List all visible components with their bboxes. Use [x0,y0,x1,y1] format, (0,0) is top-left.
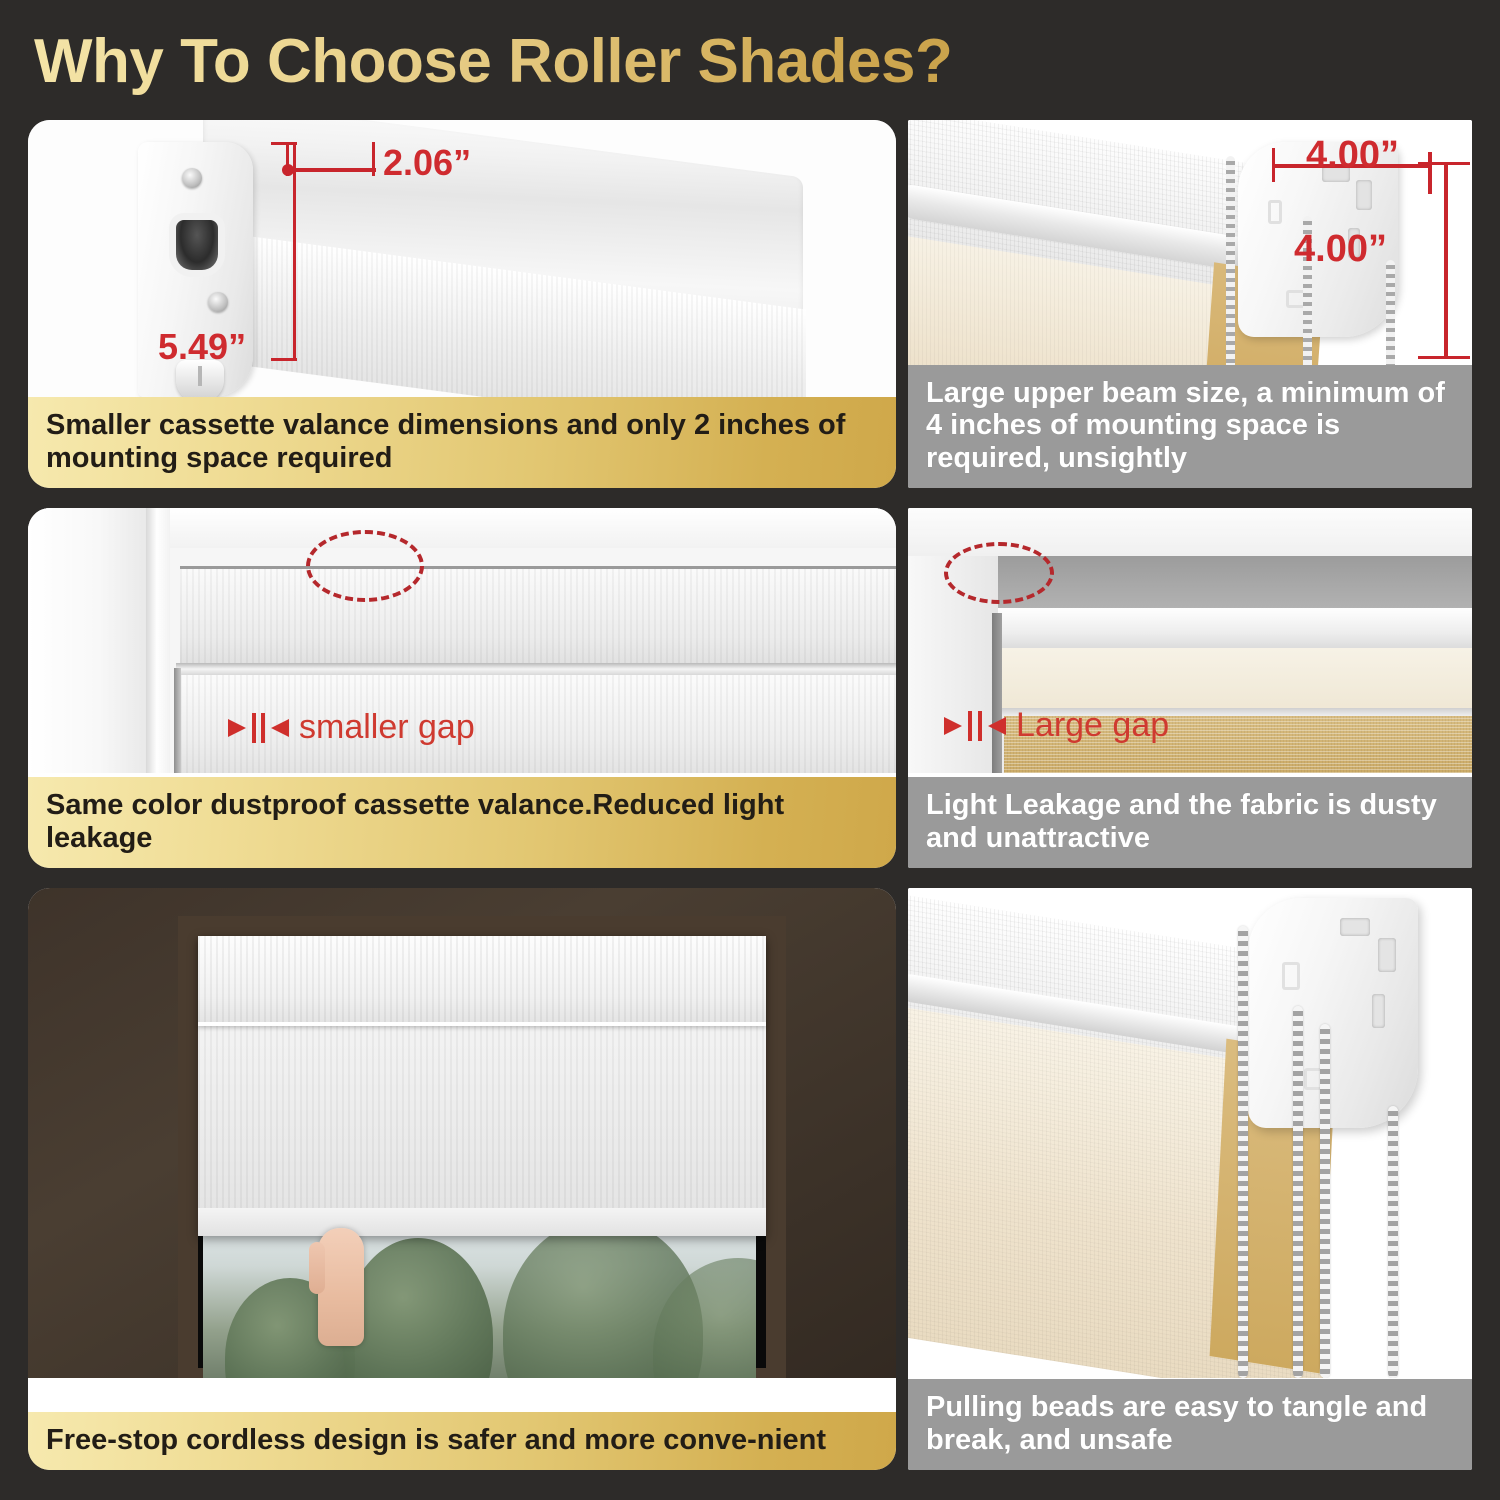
gap-tick-icon [978,711,982,741]
screw-icon [208,292,228,312]
gap-edge [174,668,181,773]
bracket-hook-slot [1356,180,1372,210]
width-dim-line [286,168,376,172]
shade-bottom-rail [198,1208,766,1236]
screw-icon [182,168,202,188]
panel-1-caption: Smaller cassette valance dimensions and … [28,397,896,488]
panel-2-caption: Large upper beam size, a minimum of 4 in… [908,365,1472,488]
arrow-right-icon [944,717,962,735]
gap-tick-icon [261,713,265,743]
panel-pulling-beads: Pulling beads are easy to tangle and bre… [908,888,1472,1470]
panel-cordless-design: Free-stop cordless design is safer and m… [28,888,896,1470]
panel-4-caption: Light Leakage and the fabric is dusty an… [908,777,1472,868]
bead-chain [1388,1106,1398,1378]
arrow-right-icon [228,719,246,737]
panel-large-gap: Large gap Light Leakage and the fabric i… [908,508,1472,868]
window-header-trim [170,508,896,548]
gap-label: smaller gap [299,708,475,747]
height-dim-line [293,142,296,360]
mounting-bracket [1248,898,1418,1128]
arrow-left-icon [271,719,289,737]
dimension-width-label: 4.00” [1306,134,1399,177]
panel-6-photo [908,888,1472,1378]
height-dim-cap-bottom [271,358,297,361]
gap-tick-icon [252,713,256,743]
height-dim-cap-top [1418,162,1470,165]
gap-label: Large gap [1016,706,1169,745]
cassette-valance-front [180,566,896,666]
panel-5-photo [28,888,896,1378]
gap-tick-icon [968,711,972,741]
bead-chain [1238,926,1248,1378]
panel-smaller-gap: smaller gap Same color dustproof cassett… [28,508,896,868]
bracket-hook-slot [1372,994,1385,1028]
bead-chain [1293,1006,1303,1378]
tree-icon [343,1238,493,1378]
infographic-root: Why To Choose Roller Shades? 2.06” 5.49”… [0,0,1500,1500]
dimension-height-label: 4.00” [1294,228,1387,271]
dimension-width-label: 2.06” [383,142,471,184]
dimension-height-label: 5.49” [158,326,246,368]
width-dim-tick-right [1428,152,1432,194]
bead-chain [1320,1024,1330,1378]
bracket-hook-slot [1378,938,1396,972]
panel-3-caption: Same color dustproof cassette valance.Re… [28,777,896,868]
bead-chain [1226,156,1235,392]
height-dim-line [1444,162,1448,358]
panel-4-photo: Large gap [908,508,1472,773]
panel-smaller-cassette: 2.06” 5.49” Smaller cassette valance dim… [28,120,896,488]
panel-5-caption: Free-stop cordless design is safer and m… [28,1412,896,1470]
bracket-emboss [1282,962,1300,990]
bracket-hook-slot [1340,918,1370,936]
height-dim-cap-top [271,142,297,145]
highlight-ellipse-icon [306,530,424,602]
gap-edge [992,613,1002,773]
cassette-valance [198,936,766,1026]
panel-1-photo: 2.06” 5.49” [28,120,896,405]
panel-2-photo: 4.00” 4.00” [908,120,1472,392]
valance-slot [176,220,218,270]
large-gap-annotation: Large gap [944,706,1169,745]
hand [318,1228,364,1346]
shadow-band [998,556,1472,614]
panel-large-beam: 4.00” 4.00” Large upper beam size, a min… [908,120,1472,488]
valance-rail [176,663,896,675]
window-frame-edge [146,508,170,773]
cream-fabric [998,648,1472,713]
page-title: Why To Choose Roller Shades? [34,22,1134,102]
panel-6-caption: Pulling beads are easy to tangle and bre… [908,1379,1472,1470]
arrow-left-icon [988,717,1006,735]
window-frame-left [28,508,146,773]
height-dim-cap-bottom [1418,356,1470,359]
window-glass [203,1218,756,1378]
highlight-ellipse-icon [944,542,1054,604]
panel-3-photo: smaller gap [28,508,896,773]
smaller-gap-annotation: smaller gap [228,708,475,747]
bracket-emboss [1268,200,1282,224]
